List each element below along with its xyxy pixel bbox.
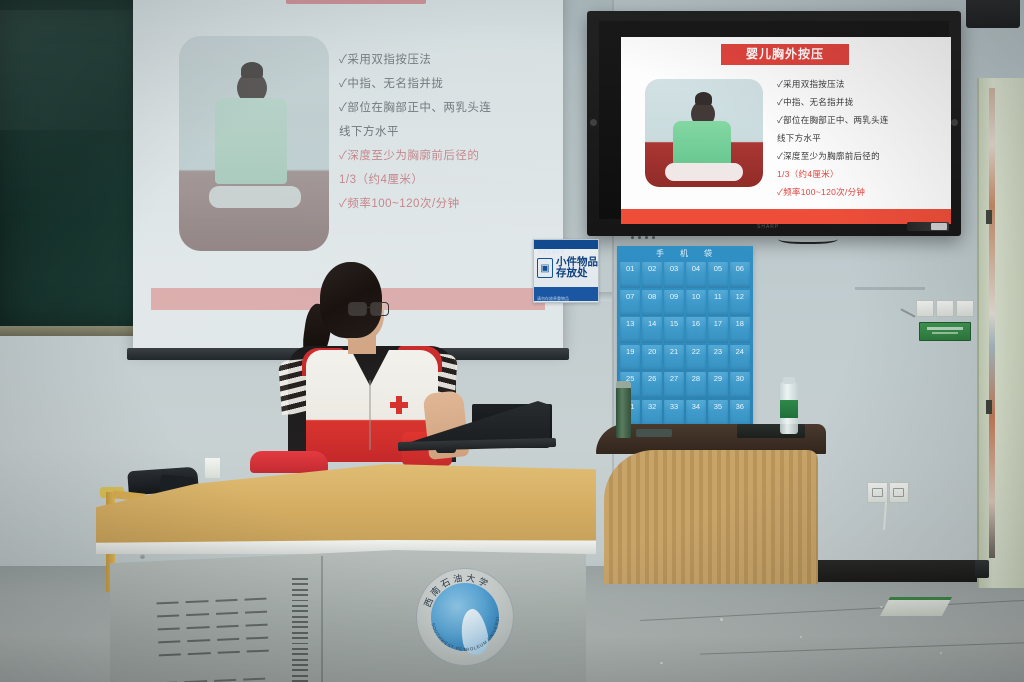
smart-display-panel[interactable]: 婴儿胸外按压 ✓采用双指按压法 ✓中指、无名指并拢 ✓部位在胸部正中、两乳头连 … xyxy=(587,11,961,236)
phone-pocket-chart: 手 机 袋 0102030405060708091011121314151617… xyxy=(617,246,753,428)
locker-icon: ▣ xyxy=(537,258,553,278)
slide-title: 婴儿胸外按压 xyxy=(721,44,849,65)
pocket-cell: 23 xyxy=(708,345,728,371)
pocket-cell: 26 xyxy=(642,372,662,398)
pocket-cell: 06 xyxy=(730,262,750,288)
pocket-cell: 24 xyxy=(730,345,750,371)
pocket-cell: 30 xyxy=(730,372,750,398)
pocket-chart-header: 手 机 袋 xyxy=(617,246,753,261)
panel-left-indicator xyxy=(590,119,597,126)
pocket-cell: 03 xyxy=(664,262,684,288)
pocket-cell: 10 xyxy=(686,290,706,316)
door-stop xyxy=(975,560,989,578)
pocket-cell: 08 xyxy=(642,290,662,316)
lectern-vent-column xyxy=(292,578,308,682)
pocket-cell: 27 xyxy=(664,372,684,398)
pocket-cell: 09 xyxy=(664,290,684,316)
desk-object xyxy=(636,429,672,437)
pocket-cell: 12 xyxy=(730,290,750,316)
classroom-photo: 婴儿胸外按压 ✓采用双指按压法 ✓中指、无名指并拢 ✓部位在胸部正中、两乳头连 … xyxy=(0,0,1024,682)
red-cross-icon xyxy=(390,396,408,414)
pocket-cell: 16 xyxy=(686,317,706,343)
storage-sign-text: 小件物品 存放处 xyxy=(556,257,598,279)
display-cable xyxy=(778,232,838,244)
pocket-cell: 07 xyxy=(620,290,640,316)
lectern: 西南石油大学 SOUTHWEST PETROLEUM UNIVERSITY xyxy=(96,432,596,682)
door-frame xyxy=(977,78,1024,588)
lectern-vent-grid-upper xyxy=(157,598,270,673)
university-emblem: 西南石油大学 SOUTHWEST PETROLEUM UNIVERSITY xyxy=(416,568,514,666)
storage-sign-body: ▣ 小件物品 存放处 xyxy=(534,249,598,287)
pocket-cell: 36 xyxy=(730,400,750,426)
pocket-cell: 19 xyxy=(620,345,640,371)
pocket-cell: 28 xyxy=(686,372,706,398)
pocket-cell: 01 xyxy=(620,262,640,288)
pocket-cell: 32 xyxy=(642,400,662,426)
pocket-cell: 17 xyxy=(708,317,728,343)
side-desk-front xyxy=(604,450,818,584)
pocket-cell: 11 xyxy=(708,290,728,316)
pocket-cell: 22 xyxy=(686,345,706,371)
eyeglasses xyxy=(348,302,390,314)
pocket-cell: 34 xyxy=(686,400,706,426)
lectern-edge-trim xyxy=(96,540,596,554)
door-hinge-upper xyxy=(986,210,992,224)
light-switch-panel[interactable] xyxy=(916,300,974,317)
side-desk xyxy=(596,424,826,584)
wall-mark xyxy=(855,287,925,290)
pocket-cell: 14 xyxy=(642,317,662,343)
pocket-cell: 04 xyxy=(686,262,706,288)
storage-sign: 西南石油大学 ▣ 小件物品 存放处 请勿存放贵重物品 xyxy=(533,239,599,303)
pocket-cell: 02 xyxy=(642,262,662,288)
door-hinge-lower xyxy=(986,400,992,414)
presenter-hair xyxy=(320,262,382,338)
door-opening xyxy=(989,88,995,558)
panel-brand-label: SHARP xyxy=(757,224,779,230)
lectern-door-seam xyxy=(321,556,323,682)
lectern-screw xyxy=(140,554,145,559)
display-inner-bezel: 婴儿胸外按压 ✓采用双指按压法 ✓中指、无名指并拢 ✓部位在胸部正中、两乳头连 … xyxy=(599,21,949,219)
wall-speaker xyxy=(966,0,1020,28)
slide-photo xyxy=(645,79,763,187)
pocket-cell: 15 xyxy=(664,317,684,343)
floor-paper xyxy=(880,597,952,616)
power-outlet[interactable] xyxy=(867,482,909,503)
pocket-cell: 33 xyxy=(664,400,684,426)
pocket-cell: 21 xyxy=(664,345,684,371)
pocket-cell: 18 xyxy=(730,317,750,343)
pocket-cell: 29 xyxy=(708,372,728,398)
thermos-flask xyxy=(616,386,631,438)
panel-right-indicator xyxy=(951,119,958,126)
slide-footer-band xyxy=(621,209,951,224)
green-wall-sign xyxy=(919,322,971,341)
slide-bullets: ✓采用双指按压法 ✓中指、无名指并拢 ✓部位在胸部正中、两乳头连 线下方水平 ✓… xyxy=(777,75,943,201)
storage-sign-footer: 请勿存放贵重物品 xyxy=(534,287,598,301)
pocket-cell: 20 xyxy=(642,345,662,371)
storage-sign-header: 西南石油大学 xyxy=(534,240,598,249)
pocket-cell: 13 xyxy=(620,317,640,343)
water-bottle-cap xyxy=(783,377,795,384)
pocket-cell: 35 xyxy=(708,400,728,426)
panel-right-control-light xyxy=(931,223,947,230)
water-bottle-label xyxy=(780,400,798,418)
pocket-chart-grid: 0102030405060708091011121314151617181920… xyxy=(620,262,750,426)
emblem-ring-text: 西南石油大学 SOUTHWEST PETROLEUM UNIVERSITY xyxy=(417,569,513,665)
display-screen: 婴儿胸外按压 ✓采用双指按压法 ✓中指、无名指并拢 ✓部位在胸部正中、两乳头连 … xyxy=(621,37,951,224)
thermos-cap xyxy=(616,381,631,388)
svg-text:西南石油大学: 西南石油大学 xyxy=(422,572,492,609)
pocket-cell: 05 xyxy=(708,262,728,288)
panel-control-buttons[interactable] xyxy=(631,226,677,230)
